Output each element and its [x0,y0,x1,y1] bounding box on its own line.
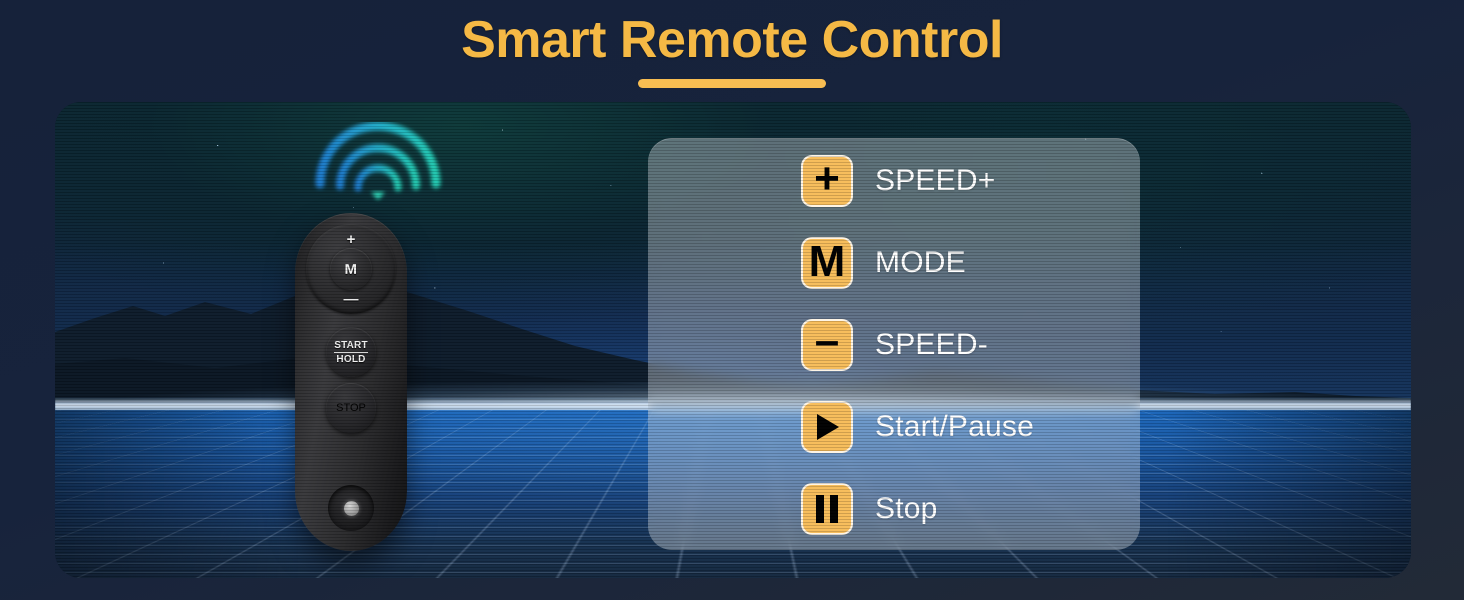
handheld-remote[interactable]: + M — START HOLD STOP [295,213,407,551]
start-hold-line2: HOLD [336,353,365,365]
led-indicator [328,485,374,531]
legend-panel: + SPEED+ M MODE – SPEED- [648,138,1140,550]
remote-dial[interactable]: + M — [306,224,396,314]
legend-item-start-pause[interactable]: Start/Pause [801,401,1034,453]
legend-label-speed-down: SPEED- [875,328,988,362]
title-underline [638,79,826,88]
legend-list: + SPEED+ M MODE – SPEED- [801,155,1034,535]
minus-icon[interactable]: – [801,319,853,371]
dial-minus-label: — [306,292,396,307]
legend-label-speed-up: SPEED+ [875,164,995,198]
legend-item-speed-down[interactable]: – SPEED- [801,319,1034,371]
legend-item-mode[interactable]: M MODE [801,237,1034,289]
page-title: Smart Remote Control [0,10,1464,70]
letter-m-icon-glyph: M [809,240,846,284]
led-dot [344,501,359,516]
legend-item-stop[interactable]: Stop [801,483,1034,535]
page-root: Smart Remote Control [0,0,1464,600]
minus-icon-glyph: – [815,319,839,363]
start-hold-line1: START [334,340,368,353]
legend-label-stop: Stop [875,492,938,526]
mode-button-label: M [345,261,358,278]
legend-item-speed-up[interactable]: + SPEED+ [801,155,1034,207]
hero-image-panel: + M — START HOLD STOP + [55,102,1411,578]
plus-icon[interactable]: + [801,155,853,207]
play-icon[interactable] [801,401,853,453]
dial-plus-label: + [306,232,396,247]
plus-icon-glyph: + [814,157,840,201]
letter-m-icon[interactable]: M [801,237,853,289]
stop-button[interactable]: STOP [326,383,376,433]
start-hold-button[interactable]: START HOLD [326,327,376,377]
pause-icon[interactable] [801,483,853,535]
legend-label-start-pause: Start/Pause [875,410,1034,444]
title-block: Smart Remote Control [0,10,1464,88]
legend-label-mode: MODE [875,246,966,280]
mode-button[interactable]: M [330,248,372,290]
wifi-signal-icon [298,122,458,212]
stop-button-label: STOP [336,402,366,414]
